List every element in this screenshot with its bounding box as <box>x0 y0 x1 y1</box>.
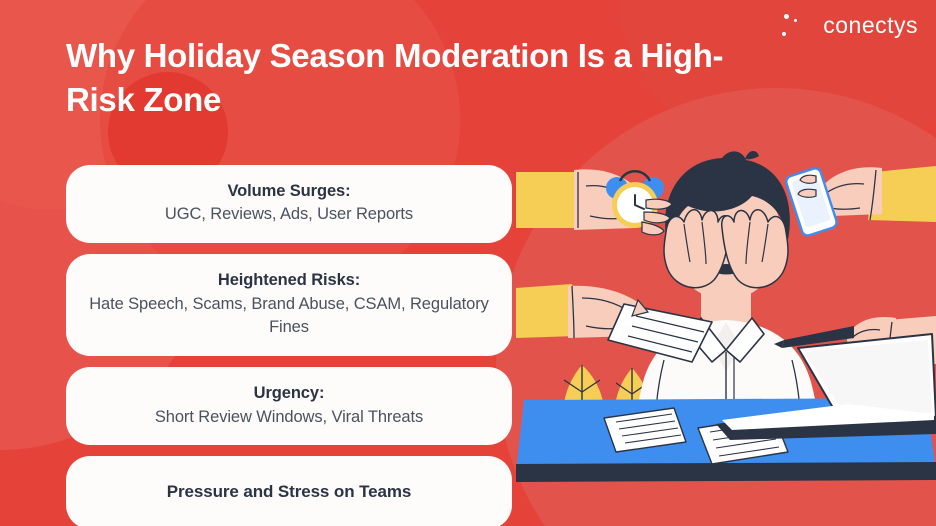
fact-card-title: Urgency: <box>86 382 492 405</box>
fact-card-list: Volume Surges: UGC, Reviews, Ads, User R… <box>66 165 512 526</box>
fact-card-body: Short Review Windows, Viral Threats <box>86 406 492 430</box>
smartphone-icon <box>785 166 936 237</box>
alarm-clock-icon <box>516 169 672 235</box>
fact-card-body: Hate Speech, Scams, Brand Abuse, CSAM, R… <box>86 293 492 341</box>
fact-card-body: UGC, Reviews, Ads, User Reports <box>86 203 492 227</box>
fact-card-title: Pressure and Stress on Teams <box>86 480 492 504</box>
documents-icon <box>516 284 712 362</box>
fact-card-title: Volume Surges: <box>86 180 492 203</box>
stressed-office-worker-illustration <box>516 0 936 526</box>
fact-card: Volume Surges: UGC, Reviews, Ads, User R… <box>66 165 512 243</box>
fact-card: Pressure and Stress on Teams <box>66 456 512 526</box>
fact-card-title: Heightened Risks: <box>86 269 492 292</box>
fact-card: Heightened Risks: Hate Speech, Scams, Br… <box>66 254 512 356</box>
fact-card: Urgency: Short Review Windows, Viral Thr… <box>66 367 512 445</box>
slide-canvas: conectys Why Holiday Season Moderation I… <box>0 0 936 526</box>
